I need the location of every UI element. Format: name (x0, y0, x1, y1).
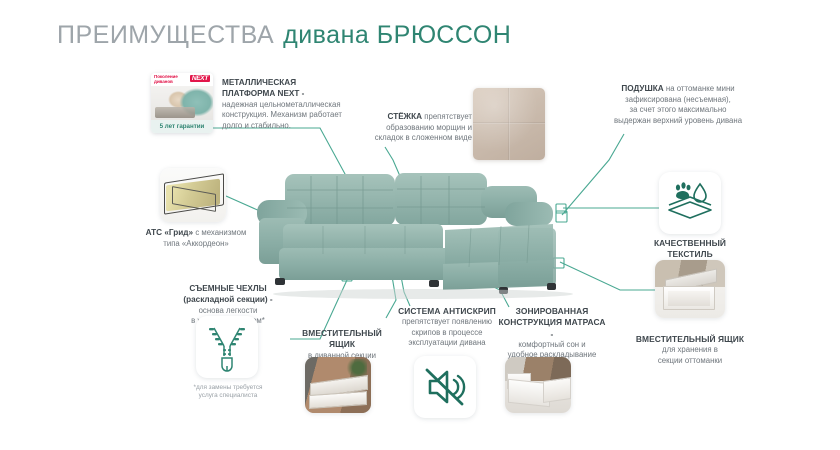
badge-brand-line2: диванов (154, 79, 173, 84)
callout-stitching-heading: СТЁЖКА (387, 112, 422, 121)
callout-pillow-body-3: за счет этого максимально (578, 105, 778, 115)
quality-textile-icon-tile (659, 172, 721, 234)
callout-platform: МЕТАЛЛИЧЕСКАЯ ПЛАТФОРМА NEXT - надежная … (222, 78, 352, 131)
title-secondary: дивана БРЮССОН (283, 21, 511, 49)
callout-pillow-heading: ПОДУШКА (621, 84, 663, 93)
callout-quality-textile: КАЧЕСТВЕННЫЙ ТЕКСТИЛЬ (634, 238, 746, 261)
callout-anti-squeak: СИСТЕМА АНТИСКРИП препятствует появлению… (398, 306, 496, 349)
drawer-photo (305, 357, 371, 413)
infographic-canvas: ПРЕИМУЩЕСТВАдивана БРЮССОН (0, 0, 840, 450)
callout-ats-heading: АТС «Грид» (146, 228, 193, 237)
metal-frame-photo (160, 168, 226, 222)
callout-storage-sofa-heading: ВМЕСТИТЕЛЬНЫЙ ЯЩИК (296, 328, 388, 351)
armchair-photo (151, 86, 213, 120)
badge-brand-line1: Поколение (154, 74, 178, 79)
covers-footnote-2: услуга специалиста (180, 392, 276, 400)
callout-covers-footnote: *для замены требуется услуга специалиста (180, 384, 276, 401)
muted-speaker-icon-tile (414, 356, 476, 418)
callout-covers-heading-l2: (раскладной секции) - (172, 295, 284, 306)
callout-ats-body-2: типа «Аккордеон» (140, 239, 252, 249)
callout-covers-body-1: основа легкости (172, 306, 284, 316)
callout-anti-squeak-heading: СИСТЕМА АНТИСКРИП (398, 306, 496, 317)
callout-stitching-body-2: образованию морщин и (368, 123, 472, 133)
callout-textile-heading-l2: ТЕКСТИЛЬ (634, 249, 746, 260)
zipper-icon (196, 316, 258, 378)
callout-platform-body-1: надежная цельнометаллическая (222, 100, 352, 110)
muted-speaker-icon (414, 356, 476, 418)
callout-storage-sofa: ВМЕСТИТЕЛЬНЫЙ ЯЩИК в диванной секции (296, 328, 388, 361)
callout-stitching-body-3: складок в сложенном виде (368, 133, 472, 143)
callout-anti-squeak-body-2: скрипов в процессе (398, 328, 496, 338)
title-primary: ПРЕИМУЩЕСТВА (57, 21, 274, 49)
callout-pillow: ПОДУШКА на оттоманке мини зафиксирована … (578, 84, 778, 126)
callout-textile-heading-l1: КАЧЕСТВЕННЫЙ (634, 238, 746, 249)
callout-storage-ottoman: ВМЕСТИТЕЛЬНЫЙ ЯЩИК для хранения в секции… (634, 334, 746, 366)
callout-mattress-heading-l1: ЗОНИРОВАННАЯ (498, 306, 606, 317)
callout-platform-body-2: конструкция. Механизм работает (222, 110, 352, 120)
callout-mattress-heading-l2: КОНСТРУКЦИЯ МАТРАСА - (498, 317, 606, 340)
callout-stitching: СТЁЖКА препятствует образованию морщин и… (368, 112, 472, 144)
next-generation-badge: Поколение диванов NEXT 5 лет гарантии (151, 73, 213, 133)
callout-ottoman-heading: ВМЕСТИТЕЛЬНЫЙ ЯЩИК (634, 334, 746, 345)
callout-ats-grid: АТС «Грид» с механизмом типа «Аккордеон» (140, 228, 252, 249)
badge-next-label: NEXT (190, 75, 210, 82)
page-title: ПРЕИМУЩЕСТВАдивана БРЮССОН (57, 21, 511, 50)
callout-covers-heading-l1: СЪЕМНЫЕ ЧЕХЛЫ (172, 284, 284, 295)
callout-mattress-body-1: комфортный сон и (498, 340, 606, 350)
callout-platform-heading-l1: МЕТАЛЛИЧЕСКАЯ (222, 78, 352, 89)
callout-pillow-body-4: выдержан верхний уровень дивана (578, 116, 778, 126)
covers-footnote-1: *для замены требуется (180, 384, 276, 392)
callout-zoned-mattress: ЗОНИРОВАННАЯ КОНСТРУКЦИЯ МАТРАСА - комфо… (498, 306, 606, 361)
storage-box-photo (655, 260, 725, 318)
callout-platform-dash: - (299, 89, 304, 98)
callout-anti-squeak-body-1: препятствует появлению (398, 317, 496, 327)
callout-pillow-body-1: на оттоманке мини (666, 84, 735, 93)
callout-platform-heading-l2: ПЛАТФОРМА NEXT (222, 89, 299, 98)
callout-ats-body-1: с механизмом (195, 228, 246, 237)
callout-stitching-body-1: препятствует (424, 112, 472, 121)
sofa-illustration (253, 168, 605, 303)
callout-ottoman-body-1: для хранения в (634, 345, 746, 355)
callout-anti-squeak-body-3: эксплуатации дивана (398, 338, 496, 348)
zipper-icon-tile (196, 316, 258, 378)
callout-platform-body-3: долго и стабильно. (222, 121, 352, 131)
badge-warranty: 5 лет гарантии (151, 120, 213, 133)
quilted-cushion-photo (473, 88, 545, 160)
callout-pillow-body-2: зафиксирована (несъемная), (578, 95, 778, 105)
unfolded-bed-photo (505, 357, 571, 413)
callout-ottoman-body-2: секции оттоманки (634, 356, 746, 366)
paw-water-fabric-icon (659, 172, 721, 234)
